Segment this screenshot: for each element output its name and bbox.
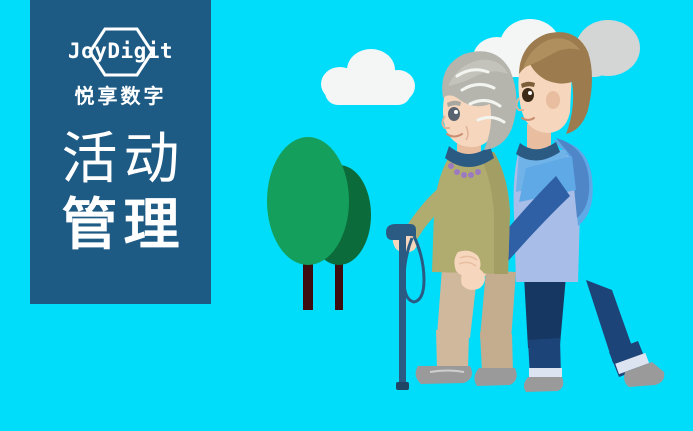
elder-back-leg xyxy=(480,270,516,340)
elder-front-shoe xyxy=(416,366,472,384)
man-front-shoe xyxy=(524,377,563,392)
page-title-line-2: 管理 xyxy=(30,192,211,258)
elder-back-shoe xyxy=(474,368,516,386)
man-eye xyxy=(522,88,534,102)
man-ear xyxy=(546,91,560,109)
logo-mark: JoyDigit xyxy=(46,26,196,78)
elder-eye xyxy=(448,107,460,121)
cane-tip xyxy=(396,382,409,390)
poster-canvas: JoyDigit 悦享数字 活动 管理 xyxy=(0,0,693,431)
man-front-leg xyxy=(524,276,566,348)
title-panel: JoyDigit 悦享数字 活动 管理 xyxy=(30,0,211,304)
logo-wordmark: JoyDigit xyxy=(46,38,196,64)
brand-logo: JoyDigit 悦享数字 xyxy=(30,26,211,110)
logo-chinese-name: 悦享数字 xyxy=(30,84,211,110)
page-title-line-1: 活动 xyxy=(30,126,211,192)
page-title: 活动 管理 xyxy=(30,126,211,258)
